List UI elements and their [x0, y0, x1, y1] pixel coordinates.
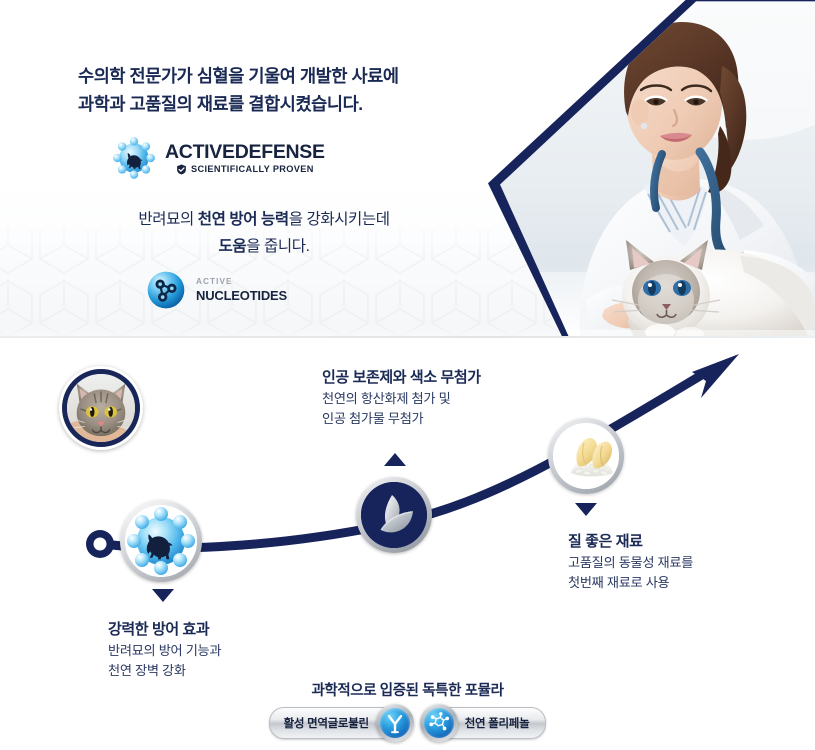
active-defense-subtitle: SCIENTIFICALLY PROVEN — [191, 164, 314, 174]
node-ingredient-inner — [553, 423, 619, 489]
active-nucleotides-big-text: NUCLEOTIDES — [196, 289, 287, 302]
formula-section-title: 과학적으로 입증된 독특한 포뮬라 — [0, 679, 815, 700]
nucleotide-sphere-icon — [146, 270, 186, 310]
caption-pointer-up-preservative — [384, 453, 406, 466]
top-headline-line-1: 수의학 전문가가 심혈을 기울여 개발한 사료에 — [78, 62, 438, 90]
infographic-page: 수의학 전문가가 심혈을 기울여 개발한 사료에 과학과 고품질의 재료를 결합… — [0, 0, 815, 750]
caption-preservative-line-2: 인공 첨가물 무첨가 — [322, 409, 481, 429]
cat-portrait-ring — [62, 369, 140, 447]
node-quality-ingredients[interactable] — [548, 418, 624, 494]
top-headline: 수의학 전문가가 심혈을 기울여 개발한 사료에 과학과 고품질의 재료를 결합… — [78, 62, 438, 118]
top-hero-section: 수의학 전문가가 심혈을 기울여 개발한 사료에 과학과 고품질의 재료를 결합… — [0, 0, 815, 338]
subhead-l1-b: 천연 방어 능력 — [198, 211, 289, 228]
top-subheadline: 반려묘의 천연 방어 능력을 강화시키는데 도움을 줍니다. — [78, 206, 450, 260]
active-nucleotides-small-text: ACTIVE — [196, 278, 287, 286]
molecule-icon — [420, 704, 458, 742]
antibody-icon — [376, 704, 414, 742]
caption-quality-ingredients: 질 좋은 재료 고품질의 동물성 재료를 첫번째 재료로 사용 — [568, 531, 693, 593]
hero-photo-wrap — [488, 0, 815, 338]
cat-molecule-node-icon — [125, 505, 197, 577]
active-nucleotides-logo-lockup: ACTIVE NUCLEOTIDES — [146, 270, 287, 310]
caption-defense-line-2: 천연 장벽 강화 — [108, 661, 221, 681]
molecule-icon-core — [424, 708, 454, 738]
tabby-cat-portrait-photo — [67, 374, 135, 442]
active-nucleotides-wordmark: ACTIVE NUCLEOTIDES — [196, 278, 287, 301]
subhead-l1-c: 을 강화시키는데 — [289, 211, 390, 228]
active-defense-wordmark: ACTIVEDEFENSE SCIENTIFICALLY PROVEN — [165, 142, 325, 175]
active-defense-subtitle-row: SCIENTIFICALLY PROVEN — [165, 164, 325, 175]
active-defense-title-heavy: DEFENSE — [235, 141, 325, 163]
caption-pointer-down-quality — [575, 503, 597, 516]
caption-defense-title: 강력한 방어 효과 — [108, 619, 221, 641]
node-no-artificial-preservatives[interactable] — [356, 477, 432, 553]
formula-badge-row: 활성 면역글로불린 천연 폴리페놀 — [0, 704, 815, 742]
badge-immunoglobulin[interactable]: 활성 면역글로불린 — [269, 704, 414, 742]
caption-preservative-title: 인공 보존제와 색소 무첨가 — [322, 367, 481, 389]
caption-defense-line-1: 반려묘의 방어 기능과 — [108, 641, 221, 661]
top-subheadline-line-1: 반려묘의 천연 방어 능력을 강화시키는데 — [78, 206, 450, 233]
caption-quality-line-2: 첫번째 재료로 사용 — [568, 573, 693, 593]
active-defense-title-light: ACTIVE — [165, 141, 235, 163]
active-defense-title: ACTIVEDEFENSE — [165, 142, 325, 163]
antibody-icon-core — [380, 708, 410, 738]
active-defense-logo-lockup: ACTIVEDEFENSE SCIENTIFICALLY PROVEN — [112, 136, 325, 180]
leaf-node-icon — [361, 482, 427, 548]
caption-quality-title: 질 좋은 재료 — [568, 531, 693, 553]
node-strong-defense-inner — [125, 505, 197, 577]
caption-preservative-line-1: 천연의 항산화제 첨가 및 — [322, 389, 481, 409]
subhead-l1-a: 반려묘의 — [138, 211, 197, 228]
caption-no-artificial-preservatives: 인공 보존제와 색소 무첨가 천연의 항산화제 첨가 및 인공 첨가물 무첨가 — [322, 367, 481, 429]
poultry-ingredient-node-icon — [553, 423, 619, 489]
cat-portrait-node — [59, 366, 143, 450]
node-leaf-inner — [361, 482, 427, 548]
badge-polyphenol[interactable]: 천연 폴리페놀 — [420, 704, 547, 742]
check-shield-icon — [176, 164, 187, 175]
subhead-l2-a: 도움 — [219, 238, 247, 255]
top-headline-line-2: 과학과 고품질의 재료를 결합시켰습니다. — [78, 90, 438, 118]
caption-strong-defense: 강력한 방어 효과 반려묘의 방어 기능과 천연 장벽 강화 — [108, 619, 221, 681]
caption-pointer-down-defense — [152, 589, 174, 602]
caption-quality-line-1: 고품질의 동물성 재료를 — [568, 553, 693, 573]
node-strong-defense[interactable] — [120, 500, 202, 582]
subhead-l2-b: 을 줍니다. — [246, 238, 309, 255]
cat-molecule-icon — [112, 136, 156, 180]
top-subheadline-line-2: 도움을 줍니다. — [78, 233, 450, 260]
